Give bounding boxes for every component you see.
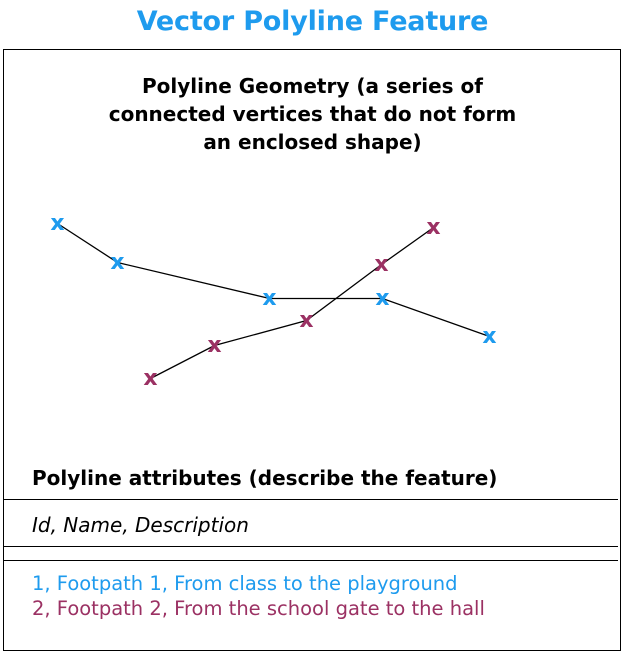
attribute-row: 1, Footpath 1, From class to the playgro… — [32, 571, 612, 596]
vertex-x-marker-icon: x — [375, 286, 389, 311]
vertex-x-marker-icon: x — [207, 333, 221, 358]
geometry-heading: Polyline Geometry (a series of connected… — [44, 72, 581, 156]
vertex-x-marker-icon: x — [50, 211, 64, 236]
figure-panel: Polyline Geometry (a series of connected… — [3, 49, 621, 651]
attributes-heading: Polyline attributes (describe the featur… — [32, 464, 497, 492]
polyline-path — [58, 224, 490, 337]
vertex-x-marker-icon: x — [426, 215, 440, 240]
divider-above-rows — [4, 560, 618, 561]
vertex-x-marker-icon: x — [262, 286, 276, 311]
vertex-x-marker-icon: x — [143, 366, 157, 391]
vertex-x-marker-icon: x — [374, 252, 388, 277]
polyline-1: xxxxx — [50, 211, 496, 349]
polyline-path — [151, 228, 434, 379]
vertex-x-marker-icon: x — [482, 324, 496, 349]
geometry-heading-line-2: connected vertices that do not form — [44, 100, 581, 128]
geometry-heading-line-3: an enclosed shape) — [44, 128, 581, 156]
page-title: Vector Polyline Feature — [0, 4, 625, 40]
attribute-columns: Id, Name, Description — [32, 511, 249, 539]
divider-above-columns — [4, 546, 618, 547]
attribute-row: 2, Footpath 2, From the school gate to t… — [32, 596, 612, 621]
divider-above-attributes — [4, 499, 618, 500]
vertex-x-marker-icon: x — [299, 308, 313, 333]
polyline-2: xxxxx — [143, 215, 440, 391]
vertex-x-marker-icon: x — [110, 250, 124, 275]
vector-polyline-figure: Vector Polyline Feature Polyline Geometr… — [0, 0, 625, 659]
attribute-rows: 1, Footpath 1, From class to the playgro… — [32, 571, 612, 621]
geometry-heading-line-1: Polyline Geometry (a series of — [44, 72, 581, 100]
